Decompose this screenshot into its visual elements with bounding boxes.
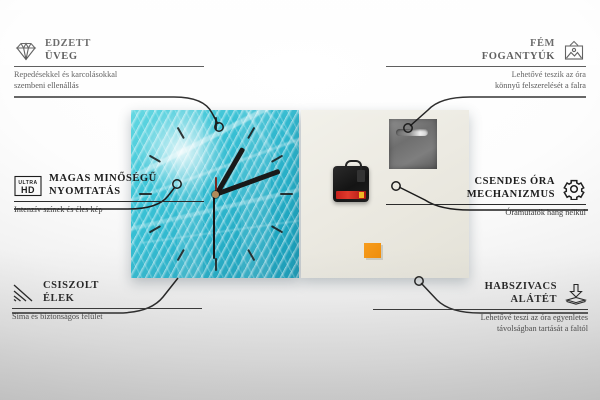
feature-title: HABSZIVACS ALÁTÉT bbox=[373, 281, 588, 306]
feature-divider bbox=[12, 308, 202, 309]
feature-title: ultra HD MAGAS MINŐSÉGŰ NYOMTATÁS bbox=[14, 173, 204, 198]
svg-text:HD: HD bbox=[21, 185, 35, 195]
feature-title-line1: MAGAS MINŐSÉGŰ bbox=[49, 173, 157, 186]
feature-title-line2: ALÁTÉT bbox=[511, 294, 557, 307]
feature-description-line1: Óramutatók hang nélkül bbox=[505, 208, 586, 217]
feature-description: Lehetővé teszi az óra egyenletes távolsá… bbox=[373, 313, 588, 334]
clock-tick bbox=[149, 225, 161, 233]
clock-mechanism-box bbox=[333, 166, 369, 202]
feature-description-line2: könnyű felszerelését a falra bbox=[495, 81, 586, 90]
feature-description: Repedésekkel és karcolásokkal szembeni e… bbox=[14, 70, 204, 91]
diamond-icon bbox=[14, 40, 38, 62]
feature-title-line1: FÉM bbox=[530, 38, 555, 51]
polished-edges-icon bbox=[12, 282, 36, 304]
feature-title-line2: ÜVEG bbox=[45, 51, 91, 64]
clock-tick bbox=[280, 193, 293, 195]
hanger-slot bbox=[396, 129, 428, 136]
feature-title-line2: MECHANIZMUS bbox=[467, 189, 555, 202]
clock-second-hand bbox=[213, 193, 215, 259]
feature-description: Óramutatók hang nélkül bbox=[386, 208, 586, 219]
feature-title-line1: CSENDES ÓRA bbox=[475, 176, 555, 189]
feature-title-text: FÉM FOGANTYÚK bbox=[482, 38, 555, 63]
feature-divider bbox=[14, 201, 204, 202]
feature-description-line1: Sima és biztonságos felület bbox=[12, 312, 103, 321]
feature-description: Intenzív színek és éles kép bbox=[14, 205, 204, 216]
feature-high-quality-print: ultra HD MAGAS MINŐSÉGŰ NYOMTATÁS Intenz… bbox=[14, 173, 204, 216]
panel-band bbox=[241, 110, 271, 278]
gear-icon bbox=[562, 178, 586, 200]
feature-description: Sima és biztonságos felület bbox=[12, 312, 202, 323]
feature-description-line2: szembeni ellenállás bbox=[14, 81, 79, 90]
picture-hanger-icon bbox=[562, 40, 586, 62]
feature-title-line2: FOGANTYÚK bbox=[482, 51, 555, 64]
mechanism-hanging-loop bbox=[345, 160, 362, 170]
feature-polished-edges: CSISZOLT ÉLEK Sima és biztonságos felüle… bbox=[12, 280, 202, 323]
feature-title-text: CSISZOLT ÉLEK bbox=[43, 280, 99, 305]
feature-title-line2: ÉLEK bbox=[43, 293, 99, 306]
feature-silent-mechanism: CSENDES ÓRA MECHANIZMUS Óramutatók hang … bbox=[386, 176, 586, 219]
feature-description-line1: Lehetővé teszik az óra bbox=[512, 70, 586, 79]
feature-title-text: MAGAS MINŐSÉGŰ NYOMTATÁS bbox=[49, 173, 157, 198]
feature-divider bbox=[14, 66, 204, 67]
feature-description-line1: Lehetővé teszi az óra egyenletes bbox=[481, 313, 588, 322]
feature-divider bbox=[373, 309, 588, 310]
feature-description: Lehetővé teszik az óra könnyű felszerelé… bbox=[386, 70, 586, 91]
feature-description-line1: Intenzív színek és éles kép bbox=[14, 205, 102, 214]
battery-terminal bbox=[359, 192, 364, 198]
foam-pad-arrow-icon bbox=[564, 283, 588, 305]
infographic-canvas: EDZETT ÜVEG Repedésekkel és karcolásokka… bbox=[0, 0, 600, 400]
clock-tick bbox=[215, 258, 217, 271]
feature-title-line1: EDZETT bbox=[45, 38, 91, 51]
feature-description-line2: távolságban tartását a faltól bbox=[497, 324, 588, 333]
feature-foam-pad: HABSZIVACS ALÁTÉT Lehetővé teszi az óra … bbox=[373, 281, 588, 334]
battery bbox=[336, 191, 366, 199]
feature-title: CSENDES ÓRA MECHANIZMUS bbox=[386, 176, 586, 201]
feature-title-line1: HABSZIVACS bbox=[485, 281, 557, 294]
feature-title: CSISZOLT ÉLEK bbox=[12, 280, 202, 305]
feature-description-line1: Repedésekkel és karcolásokkal bbox=[14, 70, 117, 79]
mechanism-adjuster bbox=[357, 170, 365, 182]
metal-hanger-plate bbox=[389, 119, 437, 169]
feature-divider bbox=[386, 66, 586, 67]
feature-title: EDZETT ÜVEG bbox=[14, 38, 204, 63]
clock-tick bbox=[215, 117, 217, 130]
feature-title: FÉM FOGANTYÚK bbox=[386, 38, 586, 63]
feature-title-text: HABSZIVACS ALÁTÉT bbox=[485, 281, 557, 306]
feature-title-line1: CSISZOLT bbox=[43, 280, 99, 293]
feature-divider bbox=[386, 204, 586, 205]
feature-title-line2: NYOMTATÁS bbox=[49, 186, 157, 199]
ultra-hd-icon: ultra HD bbox=[14, 175, 42, 197]
feature-title-text: CSENDES ÓRA MECHANIZMUS bbox=[467, 176, 555, 201]
feature-metal-handles: FÉM FOGANTYÚK Lehetővé teszik az óra kön… bbox=[386, 38, 586, 91]
feature-title-text: EDZETT ÜVEG bbox=[45, 38, 91, 63]
feature-tempered-glass: EDZETT ÜVEG Repedésekkel és karcolásokka… bbox=[14, 38, 204, 91]
clock-tick bbox=[271, 225, 283, 233]
foam-pad-spacer bbox=[364, 243, 381, 258]
clock-center-hub bbox=[212, 191, 219, 198]
